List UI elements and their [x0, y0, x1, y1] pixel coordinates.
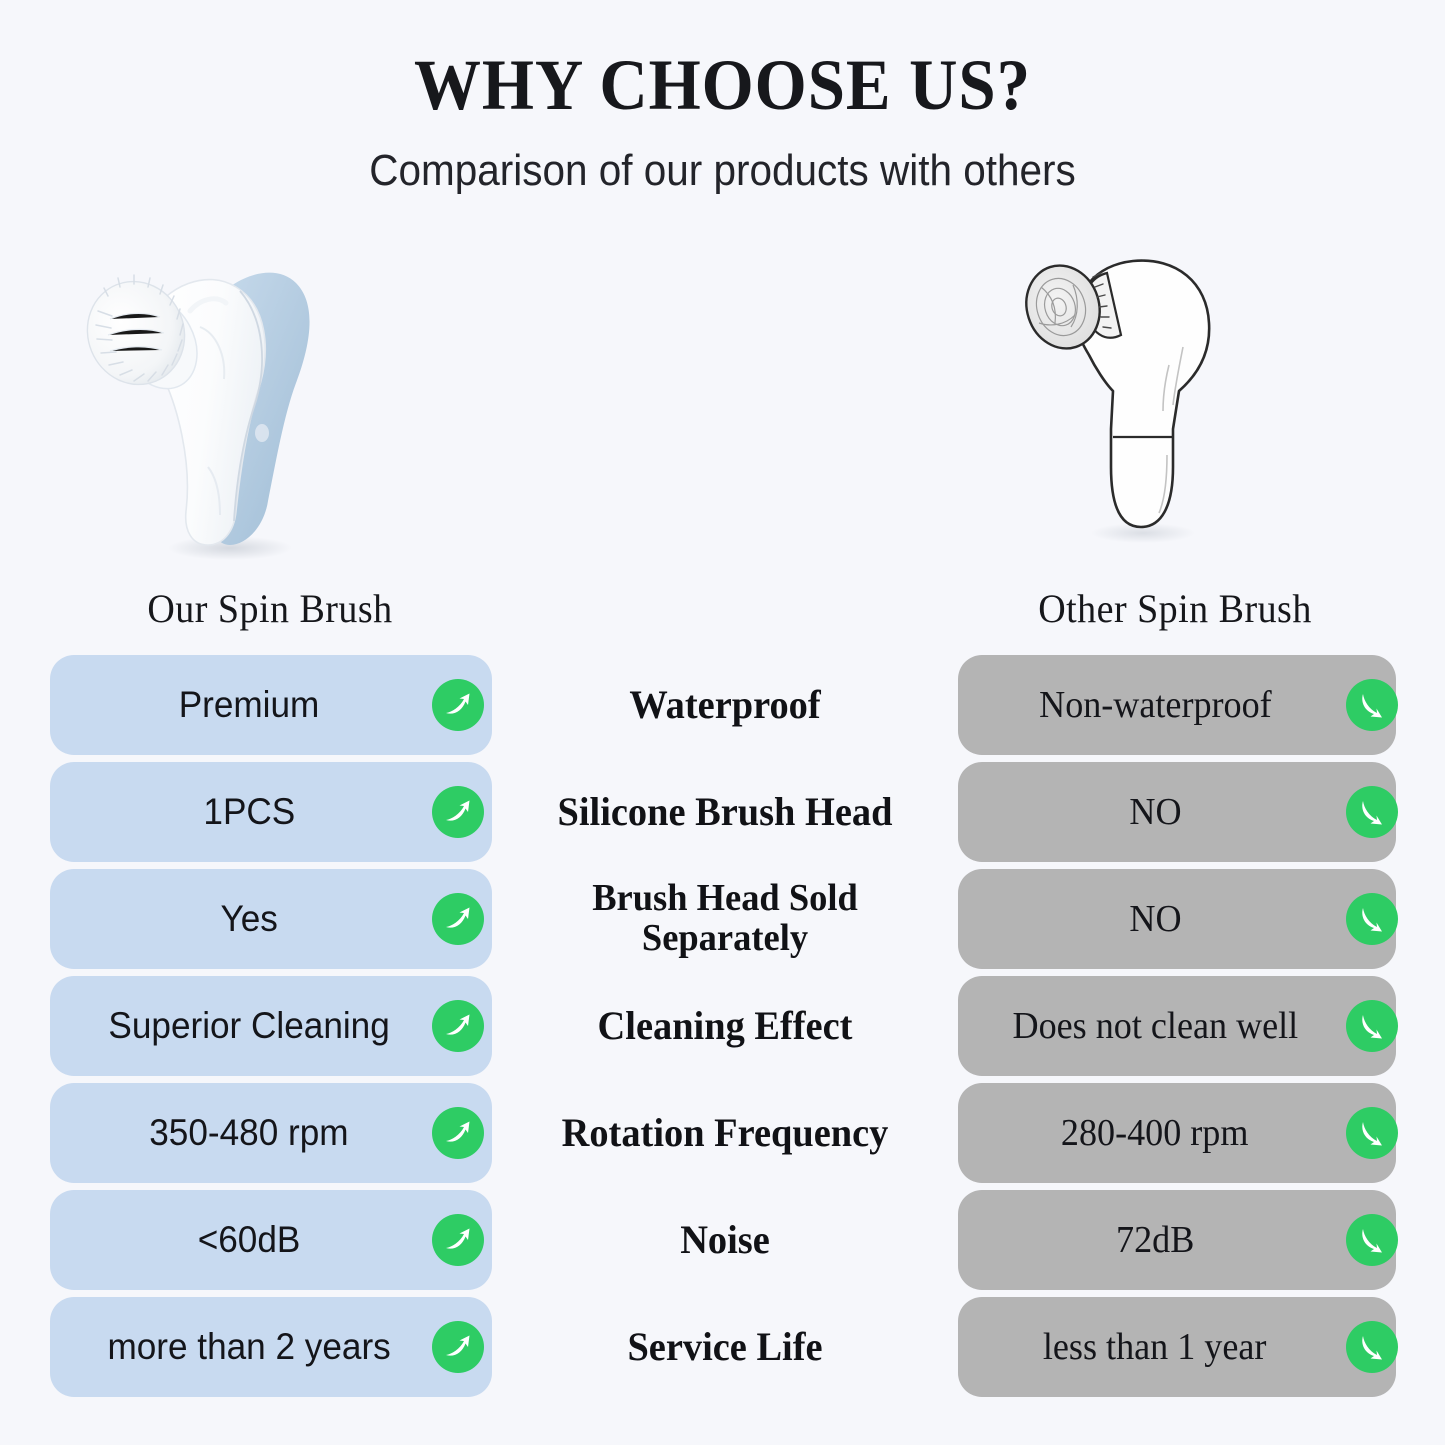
swoosh-arrow-down-icon: [1346, 1321, 1398, 1373]
table-row: 1PCS Silicone Brush Head NO: [0, 762, 1445, 869]
page-title: WHY CHOOSE US?: [51, 0, 1395, 124]
our-value-pill[interactable]: Yes: [50, 869, 492, 969]
other-value-pill[interactable]: less than 1 year: [958, 1297, 1396, 1397]
other-value-text: Non-waterproof: [1039, 683, 1272, 727]
feature-label: Silicone Brush Head: [501, 762, 948, 862]
product-image-area: Our Spin Brush: [0, 215, 1445, 635]
table-row: 350-480 rpm Rotation Frequency 280-400 r…: [0, 1083, 1445, 1190]
feature-label: Brush Head Sold Separately: [501, 869, 948, 969]
our-product-caption: Our Spin Brush: [52, 585, 489, 632]
our-value-text: 350-480 rpm: [149, 1112, 348, 1154]
other-value-pill[interactable]: Does not clean well: [958, 976, 1396, 1076]
our-value-text: 1PCS: [203, 791, 295, 833]
our-value-text: Yes: [220, 898, 277, 940]
feature-label-line2: Separately: [642, 917, 808, 959]
swoosh-arrow-down-icon: [1346, 893, 1398, 945]
our-value-pill[interactable]: Premium: [50, 655, 492, 755]
feature-label: Waterproof: [501, 655, 948, 755]
table-row: more than 2 years Service Life less than…: [0, 1297, 1445, 1404]
other-value-text: less than 1 year: [1043, 1325, 1267, 1369]
page-subtitle: Comparison of our products with others: [58, 124, 1387, 196]
feature-label: Noise: [501, 1190, 948, 1290]
swoosh-arrow-down-icon: [1346, 679, 1398, 731]
feature-label-line1: Brush Head Sold: [592, 877, 858, 919]
other-value-pill[interactable]: Non-waterproof: [958, 655, 1396, 755]
comparison-table: Premium Waterproof Non-waterproof 1PCS S…: [0, 655, 1445, 1404]
other-value-text: NO: [1129, 897, 1181, 941]
our-value-pill[interactable]: more than 2 years: [50, 1297, 492, 1397]
our-product-image: Our Spin Brush: [40, 215, 500, 565]
swoosh-arrow-down-icon: [1346, 1000, 1398, 1052]
other-value-pill[interactable]: 72dB: [958, 1190, 1396, 1290]
our-value-text: <60dB: [198, 1219, 301, 1261]
other-value-pill[interactable]: NO: [958, 869, 1396, 969]
other-product-caption: Other Spin Brush: [957, 585, 1394, 632]
swoosh-arrow-up-icon: [432, 1107, 484, 1159]
swoosh-arrow-down-icon: [1346, 1214, 1398, 1266]
spin-brush-white-outline-icon: [945, 215, 1405, 565]
table-row: Premium Waterproof Non-waterproof: [0, 655, 1445, 762]
swoosh-arrow-up-icon: [432, 1214, 484, 1266]
our-value-pill[interactable]: <60dB: [50, 1190, 492, 1290]
swoosh-arrow-up-icon: [432, 679, 484, 731]
other-value-text: 72dB: [1116, 1218, 1194, 1262]
our-value-pill[interactable]: 1PCS: [50, 762, 492, 862]
table-row: <60dB Noise 72dB: [0, 1190, 1445, 1297]
swoosh-arrow-up-icon: [432, 1000, 484, 1052]
swoosh-arrow-up-icon: [432, 1321, 484, 1373]
spin-brush-blue-white-icon: [40, 215, 500, 565]
other-value-text: 280-400 rpm: [1061, 1111, 1249, 1155]
our-value-pill[interactable]: Superior Cleaning: [50, 976, 492, 1076]
feature-label: Rotation Frequency: [501, 1083, 948, 1183]
swoosh-arrow-up-icon: [432, 786, 484, 838]
feature-label: Cleaning Effect: [501, 976, 948, 1076]
other-value-pill[interactable]: NO: [958, 762, 1396, 862]
swoosh-arrow-down-icon: [1346, 786, 1398, 838]
our-value-text: Premium: [179, 684, 320, 726]
table-row: Superior Cleaning Cleaning Effect Does n…: [0, 976, 1445, 1083]
other-value-pill[interactable]: 280-400 rpm: [958, 1083, 1396, 1183]
other-value-text: NO: [1129, 790, 1181, 834]
our-value-text: Superior Cleaning: [108, 1005, 389, 1047]
swoosh-arrow-down-icon: [1346, 1107, 1398, 1159]
swoosh-arrow-up-icon: [432, 893, 484, 945]
other-product-image: Other Spin Brush: [945, 215, 1405, 565]
other-value-text: Does not clean well: [1012, 1004, 1298, 1048]
feature-label: Service Life: [501, 1297, 948, 1397]
header: WHY CHOOSE US? Comparison of our product…: [0, 0, 1445, 196]
table-row: Yes Brush Head Sold Separately NO: [0, 869, 1445, 976]
our-value-pill[interactable]: 350-480 rpm: [50, 1083, 492, 1183]
our-value-text: more than 2 years: [107, 1326, 390, 1368]
